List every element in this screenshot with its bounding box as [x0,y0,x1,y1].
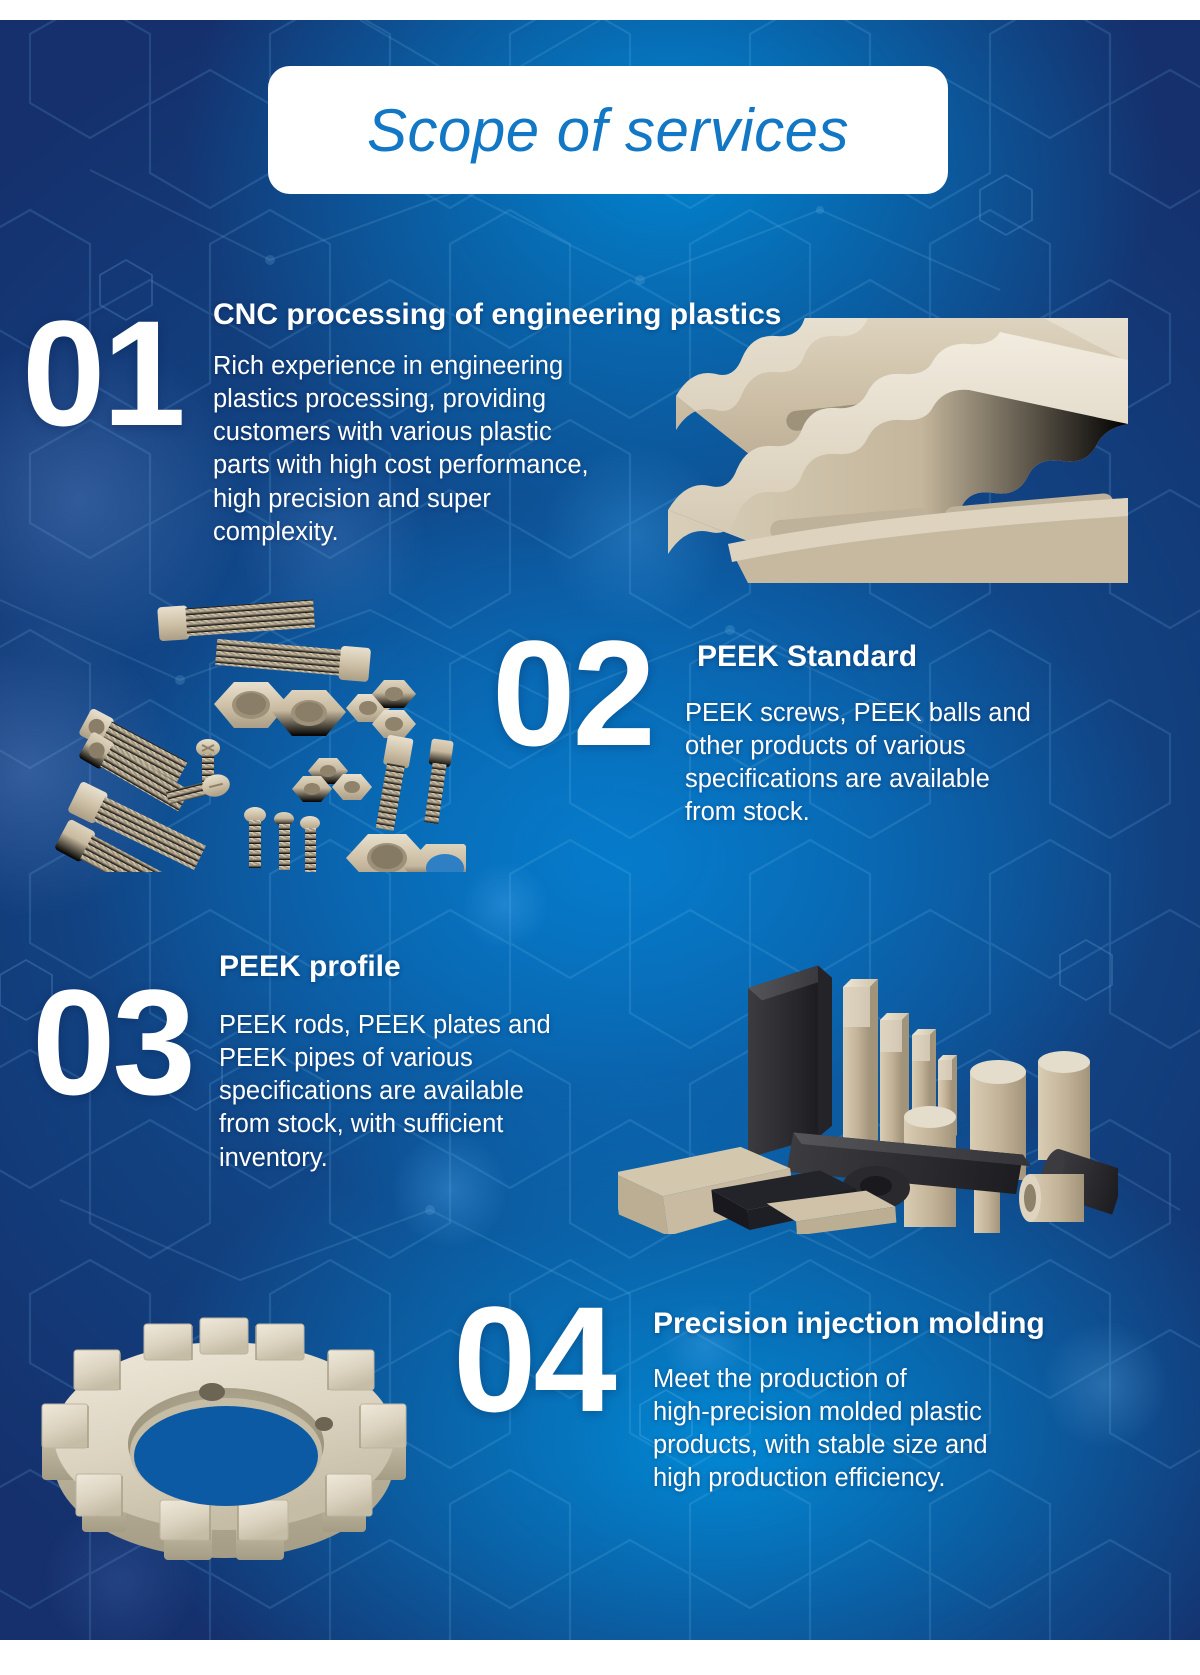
section-number-04: 04 [453,1290,614,1428]
image-peek-rods-plates-tubes [618,912,1118,1234]
section-number-01: 01 [22,304,183,442]
section-body-02: PEEK screws, PEEK balls and other produc… [685,697,1031,830]
section-heading-01: CNC processing of engineering plastics [213,298,781,331]
background-canvas: Scope of services 01 CNC processing of e… [0,20,1200,1640]
image-peek-molded-gear-ring [24,1276,444,1576]
bottom-white-band [0,1640,1200,1675]
page-title: Scope of services [367,96,849,165]
title-pill: Scope of services [268,66,948,194]
infographic-page: Scope of services 01 CNC processing of e… [0,0,1200,1675]
section-body-03: PEEK rods, PEEK plates and PEEK pipes of… [219,1009,551,1175]
top-white-band [0,0,1200,20]
section-body-04: Meet the production of high-precision mo… [653,1363,988,1496]
section-number-02: 02 [492,624,653,762]
section-heading-04: Precision injection molding [653,1307,1045,1340]
image-peek-screws-nuts-bolts [46,572,466,872]
section-heading-03: PEEK profile [219,950,401,983]
section-body-01: Rich experience in engineering plastics … [213,350,589,549]
section-number-03: 03 [32,973,193,1111]
section-heading-02: PEEK Standard [697,640,917,673]
image-peek-machined-chain-part [658,318,1128,583]
